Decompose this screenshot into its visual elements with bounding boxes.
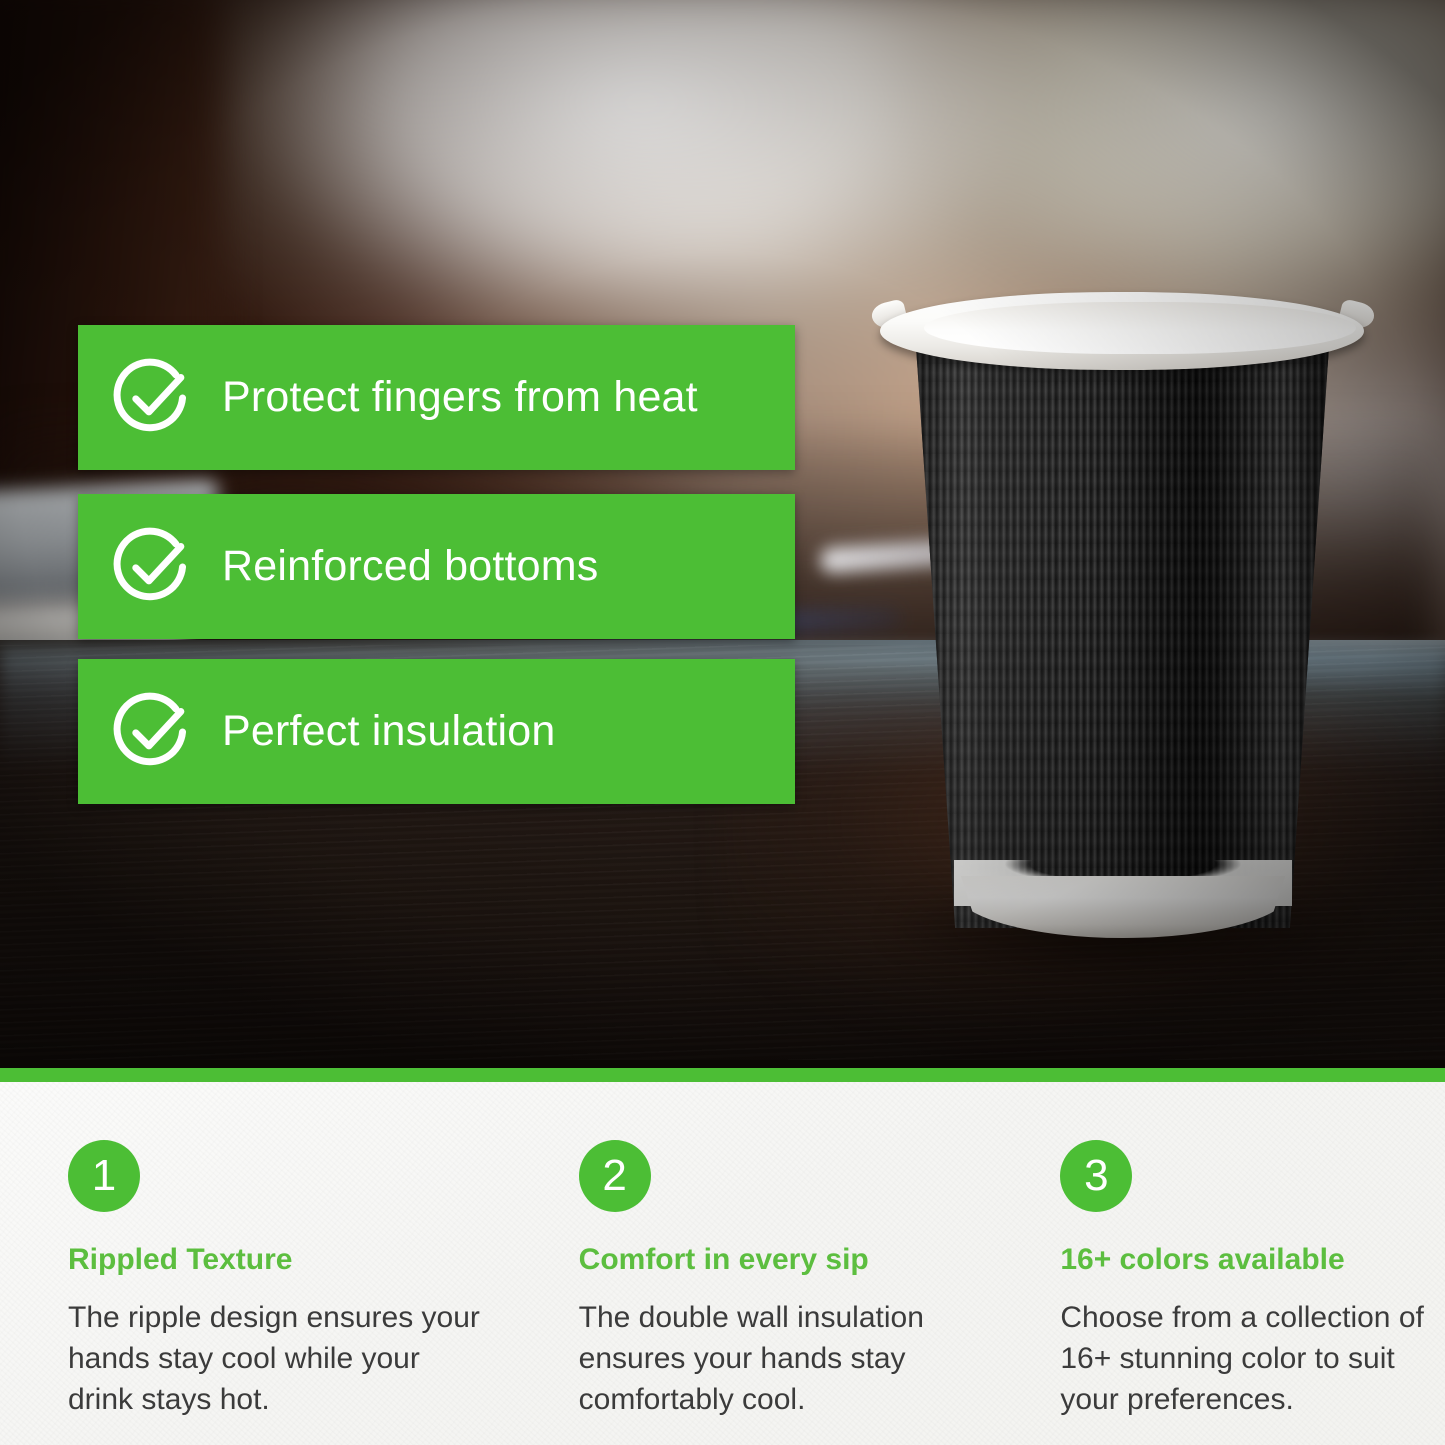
- cup-rim: [880, 292, 1364, 370]
- hero-photo: Protect fingers from heat Reinforced bot…: [0, 0, 1445, 1068]
- coffee-cup: [862, 288, 1382, 948]
- benefit-body: The ripple design ensures your hands sta…: [68, 1297, 482, 1420]
- feature-banner-perfect-insulation: Perfect insulation: [78, 659, 795, 804]
- check-circle-icon: [112, 691, 194, 773]
- benefit-title: Rippled Texture: [68, 1245, 482, 1275]
- benefit-column-1: 1 Rippled Texture The ripple design ensu…: [0, 1082, 482, 1445]
- check-circle-icon: [112, 357, 194, 439]
- product-infographic: Protect fingers from heat Reinforced bot…: [0, 0, 1445, 1445]
- divider-green-bar: [0, 1068, 1445, 1082]
- benefit-title: Comfort in every sip: [579, 1245, 964, 1275]
- benefit-number-badge: 2: [579, 1140, 651, 1212]
- divider-dark-edge: [0, 1060, 1445, 1068]
- benefit-body: Choose from a collection of 16+ stunning…: [1060, 1297, 1445, 1420]
- benefits-panel: 1 Rippled Texture The ripple design ensu…: [0, 1082, 1445, 1445]
- feature-banner-label: Reinforced bottoms: [222, 545, 598, 588]
- benefits-columns: 1 Rippled Texture The ripple design ensu…: [0, 1082, 1445, 1445]
- benefit-column-2: 2 Comfort in every sip The double wall i…: [482, 1082, 964, 1445]
- benefit-body: The double wall insulation ensures your …: [579, 1297, 964, 1420]
- benefit-column-3: 3 16+ colors available Choose from a col…: [963, 1082, 1445, 1445]
- check-circle-icon: [112, 526, 194, 608]
- benefit-title: 16+ colors available: [1060, 1245, 1445, 1275]
- benefit-number-badge: 1: [68, 1140, 140, 1212]
- cup-rim-inner: [924, 302, 1356, 354]
- feature-banner-protect-fingers: Protect fingers from heat: [78, 325, 795, 470]
- feature-banner-label: Protect fingers from heat: [222, 376, 698, 419]
- feature-banner-label: Perfect insulation: [222, 710, 555, 753]
- benefit-number-badge: 3: [1060, 1140, 1132, 1212]
- feature-banner-reinforced-bottoms: Reinforced bottoms: [78, 494, 795, 639]
- cup-shading: [890, 328, 1355, 928]
